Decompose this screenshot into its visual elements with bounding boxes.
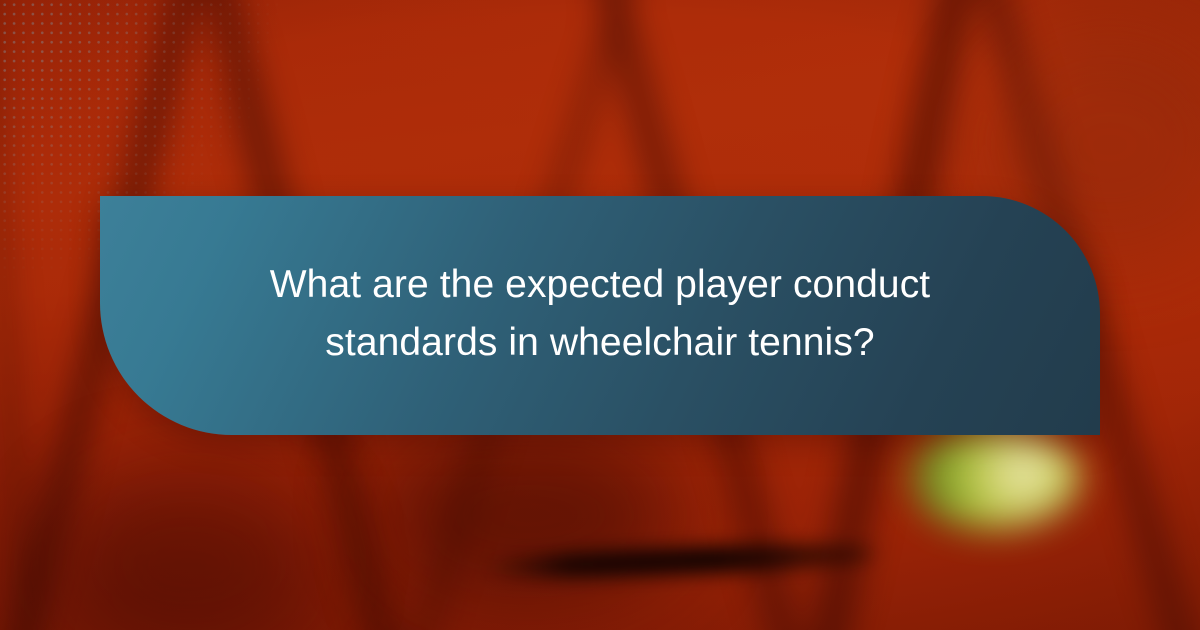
page-title: What are the expected player conduct sta… bbox=[255, 256, 945, 376]
share-card-canvas: What are the expected player conduct sta… bbox=[0, 0, 1200, 630]
tennis-ball-icon bbox=[905, 425, 1080, 530]
question-banner: What are the expected player conduct sta… bbox=[100, 196, 1100, 435]
